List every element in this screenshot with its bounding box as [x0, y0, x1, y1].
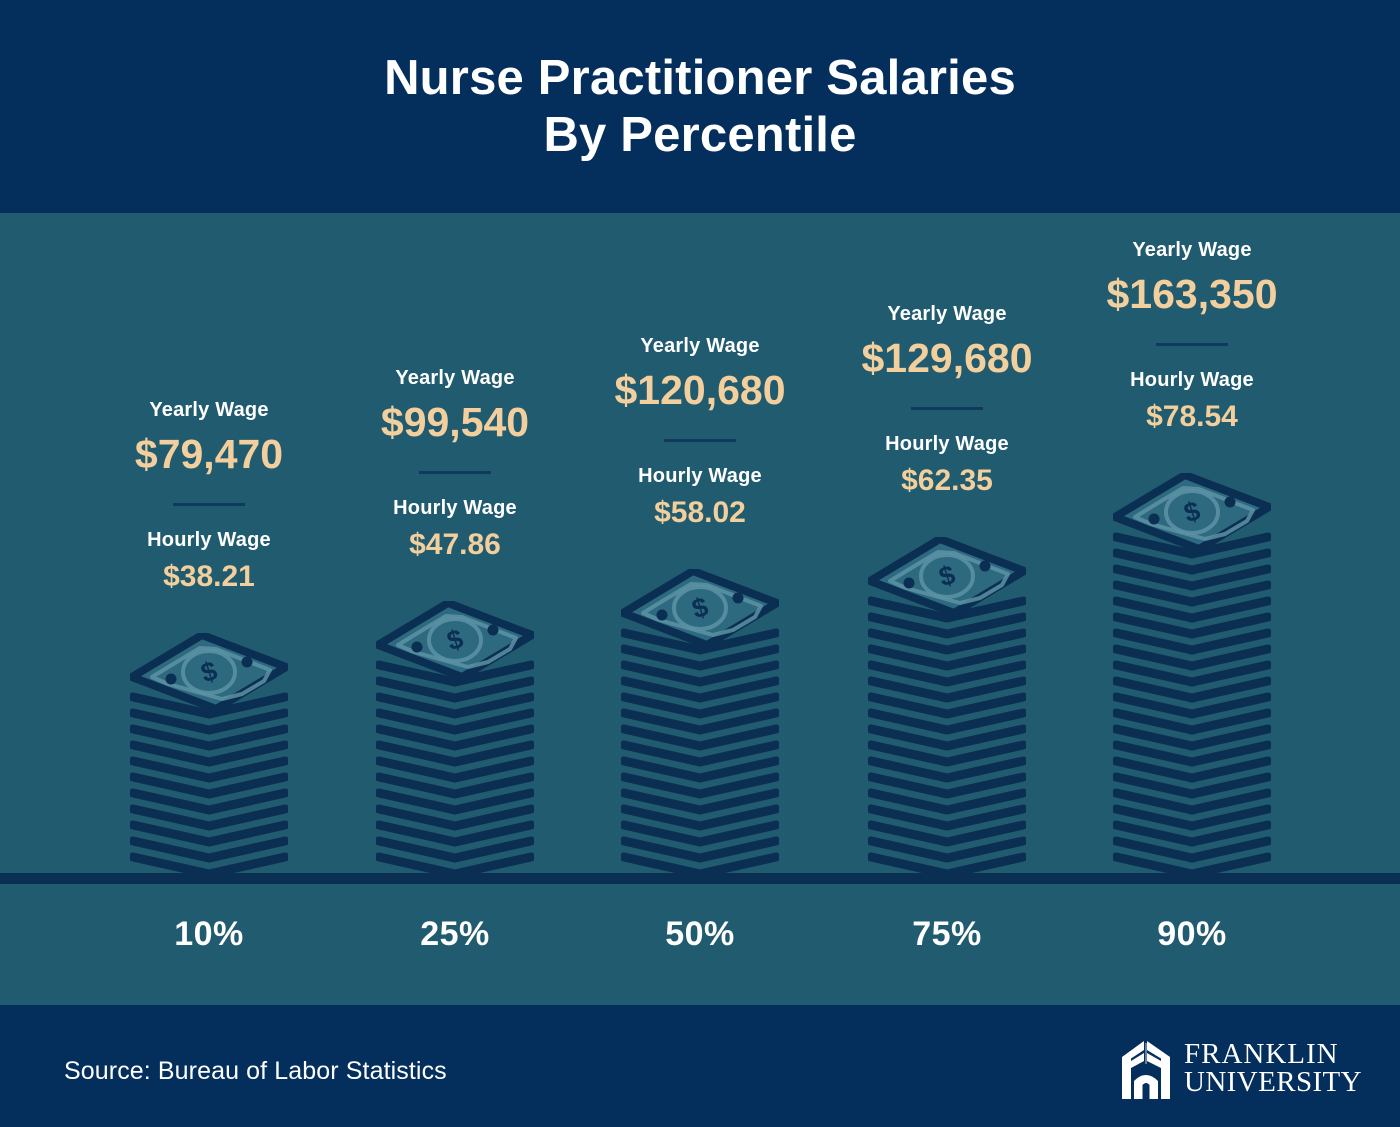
wage-divider — [911, 407, 983, 410]
percentile-column: Yearly Wage $163,350 Hourly Wage $78.54 … — [1067, 0, 1317, 873]
percentile-axis-label: 25% — [330, 915, 580, 954]
percentile-column: Yearly Wage $129,680 Hourly Wage $62.35 … — [822, 0, 1072, 873]
yearly-wage-value: $163,350 — [1106, 269, 1277, 320]
percentile-column: Yearly Wage $99,540 Hourly Wage $47.86 $ — [330, 0, 580, 873]
franklin-arch-logo-icon — [1118, 1037, 1174, 1099]
hourly-wage-value: $58.02 — [654, 494, 746, 532]
wage-label-block: Yearly Wage $120,680 Hourly Wage $58.02 — [575, 334, 825, 569]
money-stack-icon: $ — [376, 601, 534, 873]
wage-label-block: Yearly Wage $163,350 Hourly Wage $78.54 — [1067, 238, 1317, 473]
yearly-wage-value: $129,680 — [861, 333, 1032, 384]
logo-wordmark: FRANKLIN UNIVERSITY — [1184, 1040, 1362, 1096]
percentile-axis-label: 50% — [575, 915, 825, 954]
hourly-wage-value: $47.86 — [409, 526, 501, 564]
franklin-university-logo: FRANKLIN UNIVERSITY — [1118, 1037, 1362, 1099]
money-stack-icon: $ — [130, 633, 288, 873]
hourly-wage-label: Hourly Wage — [393, 496, 517, 521]
wage-label-block: Yearly Wage $129,680 Hourly Wage $62.35 — [822, 302, 1072, 537]
wage-label-block: Yearly Wage $99,540 Hourly Wage $47.86 — [330, 366, 580, 601]
money-stack-icon: $ — [1113, 473, 1271, 873]
percentile-axis-label: 90% — [1067, 915, 1317, 954]
infographic-root: Nurse Practitioner Salaries By Percentil… — [0, 0, 1400, 1127]
hourly-wage-label: Hourly Wage — [638, 464, 762, 489]
yearly-wage-label: Yearly Wage — [149, 398, 268, 423]
logo-line-university: UNIVERSITY — [1184, 1068, 1362, 1096]
hourly-wage-value: $62.35 — [901, 462, 993, 500]
wage-divider — [1156, 343, 1228, 346]
logo-line-franklin: FRANKLIN — [1184, 1040, 1362, 1068]
hourly-wage-label: Hourly Wage — [885, 432, 1009, 457]
chart-baseline — [0, 873, 1400, 884]
yearly-wage-label: Yearly Wage — [1132, 238, 1251, 263]
yearly-wage-value: $120,680 — [614, 365, 785, 416]
money-stack-icon: $ — [868, 537, 1026, 873]
footer-bar: Source: Bureau of Labor Statistics FRANK… — [0, 1005, 1400, 1127]
percentile-column: Yearly Wage $120,680 Hourly Wage $58.02 … — [575, 0, 825, 873]
wage-divider — [664, 439, 736, 442]
percentile-column: Yearly Wage $79,470 Hourly Wage $38.21 $ — [84, 0, 334, 873]
yearly-wage-value: $99,540 — [381, 397, 529, 448]
source-text: Source: Bureau of Labor Statistics — [64, 1057, 447, 1086]
yearly-wage-label: Yearly Wage — [395, 366, 514, 391]
wage-divider — [419, 471, 491, 474]
hourly-wage-value: $38.21 — [163, 558, 255, 596]
percentile-axis-label: 75% — [822, 915, 1072, 954]
hourly-wage-label: Hourly Wage — [147, 528, 271, 553]
hourly-wage-label: Hourly Wage — [1130, 368, 1254, 393]
yearly-wage-value: $79,470 — [135, 429, 283, 480]
hourly-wage-value: $78.54 — [1146, 398, 1238, 436]
percentile-axis-label: 10% — [84, 915, 334, 954]
money-stack-icon: $ — [621, 569, 779, 873]
yearly-wage-label: Yearly Wage — [640, 334, 759, 359]
yearly-wage-label: Yearly Wage — [887, 302, 1006, 327]
wage-divider — [173, 503, 245, 506]
wage-label-block: Yearly Wage $79,470 Hourly Wage $38.21 — [84, 398, 334, 633]
